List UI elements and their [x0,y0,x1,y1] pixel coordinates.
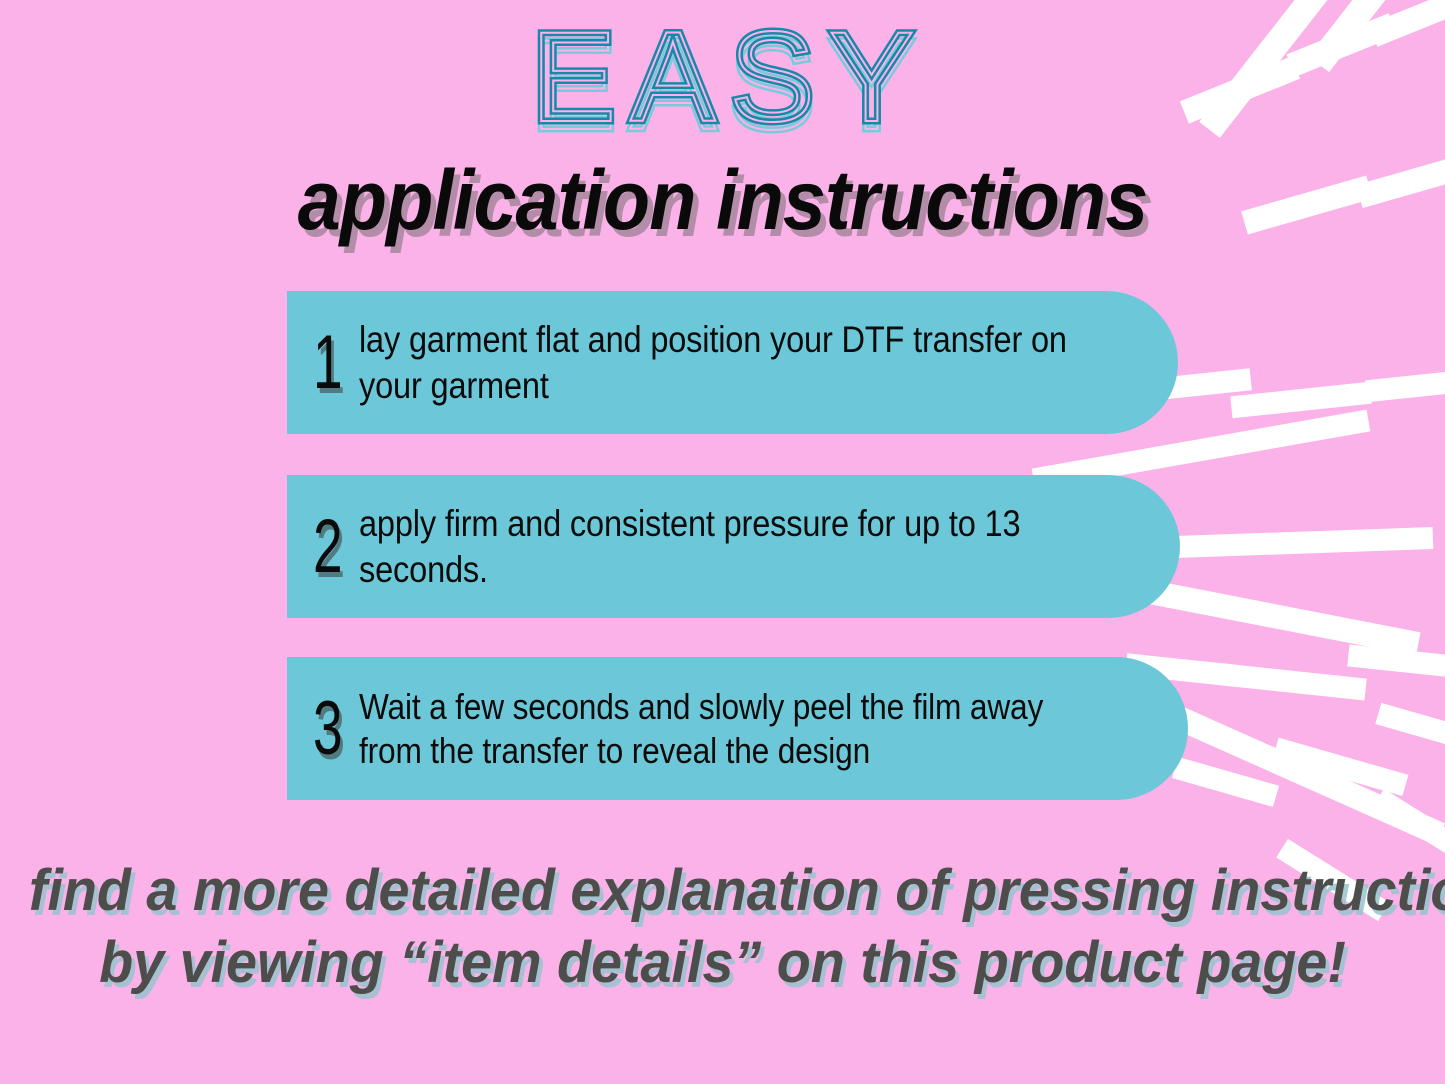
step-number-1: 1 [313,325,345,401]
step-text-1: lay garment flat and position your DTF t… [359,317,1080,407]
footer-line-1: find a more detailed explanation of pres… [29,862,1416,920]
step-number-2: 2 [313,509,345,585]
headline-easy: EASY EASY EASY EASY [0,14,1445,154]
application-instructions-poster: EASY EASY EASY EASY application instruct… [0,0,1445,1084]
step-pill-2: 2 apply firm and consistent pressure for… [287,475,1180,618]
step-number-3: 3 [313,691,345,767]
step-pill-1: 1 lay garment flat and position your DTF… [287,291,1178,434]
step-text-3: Wait a few seconds and slowly peel the f… [359,685,1089,773]
headline-application-instructions: application instructions [58,158,1387,242]
step-pill-3: 3 Wait a few seconds and slowly peel the… [287,657,1188,800]
headline-easy-outline-inner: EASY [0,14,1445,142]
step-text-2: apply firm and consistent pressure for u… [359,501,1081,591]
footer-line-2: by viewing “item details” on this produc… [29,934,1416,992]
